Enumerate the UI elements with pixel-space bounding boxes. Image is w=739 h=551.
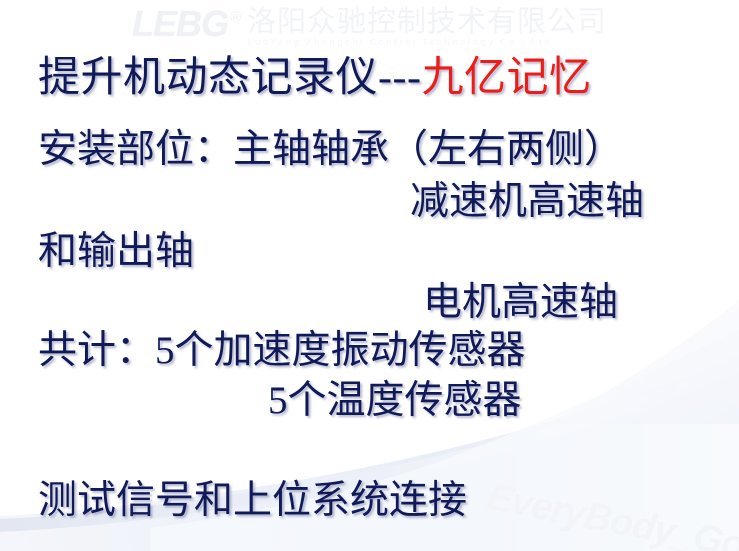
bullet-gearbox-high-speed-shaft: 减速机高速轴	[410, 182, 644, 221]
slide-title-accent: 九亿记忆	[421, 55, 591, 101]
bullet-motor-high-speed-shaft: 电机高速轴	[423, 283, 618, 322]
bullet-total-vibration-sensors: 共计：5个加速度振动传感器	[38, 331, 526, 370]
presentation-slide: LEBG ® 洛阳众驰控制技术有限公司 LuoYang Zhongchi Con…	[0, 0, 739, 551]
bullet-install-location: 安装部位：主轴轴承（左右两侧）	[38, 130, 623, 169]
slide-title-main: 提升机动态记录仪---	[38, 55, 421, 101]
bullet-output-shaft: 和输出轴	[38, 232, 194, 271]
bullet-signal-host-connection: 测试信号和上位系统连接	[38, 481, 467, 520]
slide-text-body: 提升机动态记录仪---九亿记忆 安装部位：主轴轴承（左右两侧） 减速机高速轴 和…	[0, 0, 739, 551]
bullet-total-temperature-sensors: 5个温度传感器	[268, 381, 522, 420]
slide-title: 提升机动态记录仪---九亿记忆	[38, 57, 591, 99]
